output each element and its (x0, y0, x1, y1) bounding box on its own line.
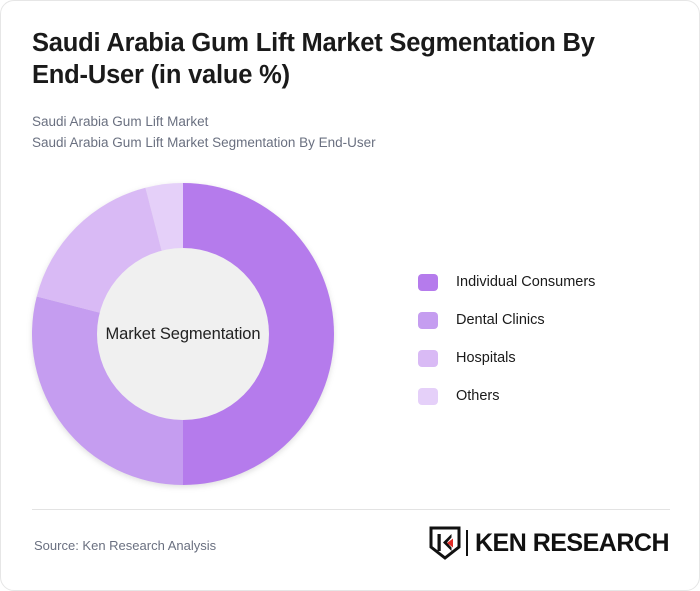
legend-item[interactable]: Individual Consumers (418, 263, 658, 301)
legend-item-label: Others (456, 388, 500, 404)
brand-name: KEN RESEARCH (475, 529, 669, 558)
legend-item[interactable]: Dental Clinics (418, 301, 658, 339)
brand-logo: KEN RESEARCH (429, 525, 669, 561)
source-text: Source: Ken Research Analysis (34, 538, 216, 553)
legend-swatch-icon (418, 274, 438, 291)
chart-card: Saudi Arabia Gum Lift Market Segmentatio… (0, 0, 700, 591)
page-title: Saudi Arabia Gum Lift Market Segmentatio… (32, 28, 652, 91)
legend-swatch-icon (418, 350, 438, 367)
chart-subtitle-line-1: Saudi Arabia Gum Lift Market (32, 112, 652, 133)
ken-research-shield-k-icon (429, 526, 461, 560)
legend-item-label: Dental Clinics (456, 312, 545, 328)
footer-divider (32, 509, 670, 510)
legend-item[interactable]: Hospitals (418, 339, 658, 377)
legend-swatch-icon (418, 312, 438, 329)
legend-item[interactable]: Others (418, 377, 658, 415)
donut-chart: Market Segmentation (32, 183, 334, 485)
brand-divider (466, 530, 468, 556)
subtitle-block: Saudi Arabia Gum Lift Market Saudi Arabi… (32, 112, 652, 154)
chart-legend: Individual ConsumersDental ClinicsHospit… (418, 263, 658, 415)
chart-subtitle-line-2: Saudi Arabia Gum Lift Market Segmentatio… (32, 133, 652, 154)
legend-item-label: Individual Consumers (456, 274, 595, 290)
donut-chart-svg (32, 183, 334, 485)
donut-hole (97, 248, 269, 420)
legend-item-label: Hospitals (456, 350, 516, 366)
legend-swatch-icon (418, 388, 438, 405)
